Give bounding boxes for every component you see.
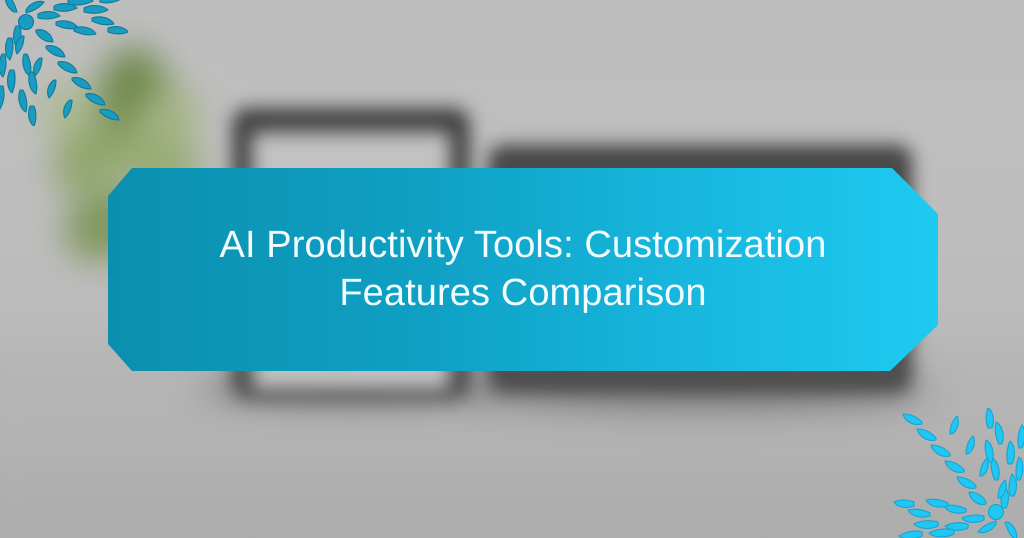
featured-image-canvas: AI Productivity Tools: Customization Fea… (0, 0, 1024, 538)
page-title-line-1: AI Productivity Tools: Customization (148, 222, 898, 270)
page-title-line-2: Features Comparison (148, 270, 898, 318)
page-title: AI Productivity Tools: Customization Fea… (148, 222, 898, 317)
floral-corner-bottom-right-icon (894, 408, 1024, 538)
floral-corner-top-left-icon (0, 0, 128, 126)
title-banner: AI Productivity Tools: Customization Fea… (108, 168, 938, 371)
